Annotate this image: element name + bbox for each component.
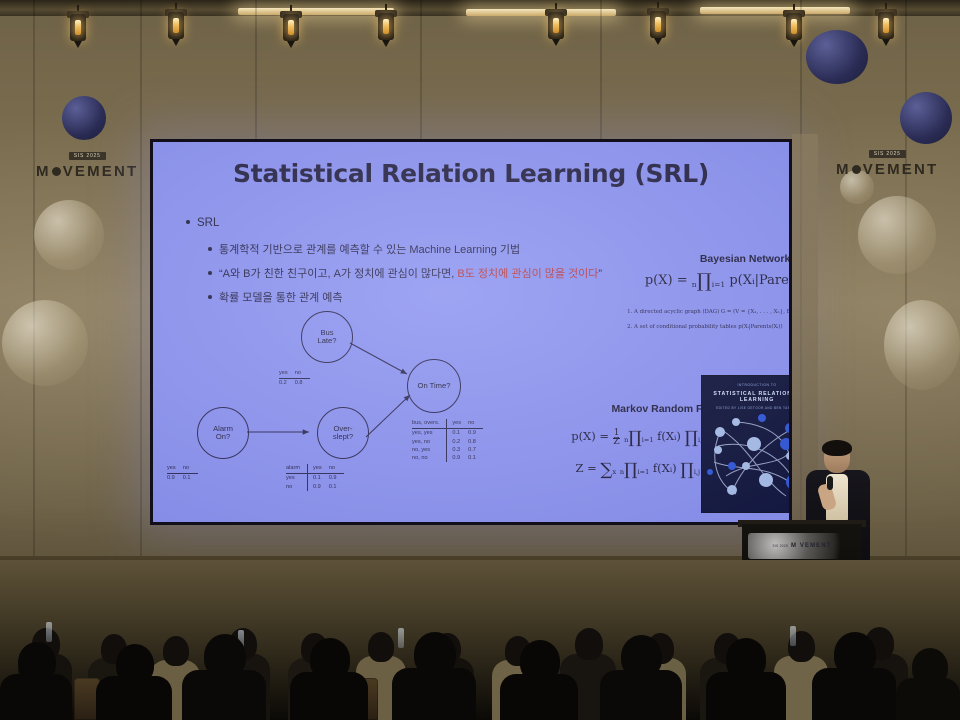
cpt-bus-late: yes no 0.2 0.8 xyxy=(279,369,310,388)
cpt-overslept-cell: 0.9 xyxy=(329,474,344,483)
book-cover-graph-icon xyxy=(702,410,789,510)
cpt-on-time: bus, overs. yes no yes, yes 0.1 0.9 yes,… xyxy=(412,419,483,462)
quote-part-plain-end: ” xyxy=(598,268,602,280)
book-title-line1: INTRODUCTION TO xyxy=(702,383,789,387)
quote-part-highlight: B도 정치에 관심이 많을 것이다 xyxy=(457,268,598,280)
speaker-hair xyxy=(822,440,852,456)
cpt-bus-late-cell: 0.8 xyxy=(295,379,310,388)
mrf-eq1-prod1-lower: i=1 xyxy=(642,437,654,444)
audience-member-front xyxy=(96,650,172,720)
cpt-bus-late-header: yes xyxy=(279,369,295,379)
bayesian-network-diagram: BusLate? AlarmOn? Over-slept? On Time? y… xyxy=(167,309,567,504)
mrf-eq1-fraction: 1 Z xyxy=(613,429,621,448)
cpt-on-time-cell: no, yes xyxy=(412,446,447,454)
mrf-eq2-prod1-lower: i=1 xyxy=(638,469,650,476)
wall-logo-left: SIS 2025 M VEMENT xyxy=(36,152,138,180)
mrf-eq2-sum-lower: x xyxy=(613,469,617,476)
bn-requirement-item: A directed acyclic graph (DAG) G = (V = … xyxy=(634,309,789,315)
decor-sphere-light-3 xyxy=(858,196,936,274)
bullet-probabilistic-model-label: 확률 모델을 통한 관계 예측 xyxy=(219,292,343,304)
cpt-on-time-cell: 0.3 xyxy=(447,446,468,454)
quote-part-plain-start: “A와 B가 친한 친구이고, A가 정치에 관심이 많다면, xyxy=(219,268,457,280)
audience-member-front xyxy=(812,642,896,720)
audience-head xyxy=(18,642,56,682)
ceiling-light-strip-2 xyxy=(466,9,616,16)
mrf-eq1-mid: f(Xᵢ) xyxy=(657,429,681,443)
cpt-on-time-header: no xyxy=(468,419,483,429)
audience-head xyxy=(116,644,154,684)
cpt-on-time-cell: yes, yes xyxy=(412,429,447,438)
wall-logo-right-rest: VEMENT xyxy=(863,161,939,178)
bayesian-networks-equation: p(X) = n∏i=1 p(Xᵢ|Parents(Xᵢ)) xyxy=(633,270,789,292)
mrf-eq1-lhs: p(X) = xyxy=(571,429,609,443)
wall-logo-left-m: M xyxy=(36,163,51,180)
bn-node-on-time: On Time? xyxy=(407,359,461,413)
product-operator-icon: ∏ xyxy=(685,428,699,448)
product-operator-icon: ∏ xyxy=(680,460,694,480)
bn-prod-lower: i=1 xyxy=(712,281,725,289)
audience-head xyxy=(368,632,394,662)
wall-pilaster-7 xyxy=(905,0,907,600)
mrf-eq2-lhs: Z = xyxy=(575,461,596,475)
bullet-dot-icon xyxy=(208,295,212,299)
cpt-overslept-cell: no xyxy=(286,483,308,491)
mrf-eq1-frac-den: Z xyxy=(613,437,619,447)
decor-sphere-light-4 xyxy=(884,300,960,390)
presentation-slide: Statistical Relation Learning (SRL) SRL … xyxy=(153,142,789,522)
book-title-line2: STATISTICAL RELATIONAL LEARNING xyxy=(702,391,789,403)
bayesian-networks-requirements: A directed acyclic graph (DAG) G = (V = … xyxy=(623,309,789,339)
podium-logo-badge: SIS 2025 xyxy=(773,544,789,548)
bullet-ml-technique-label: 통계학적 기반으로 관계를 예측할 수 있는 Machine Learning … xyxy=(219,244,520,256)
audience-member-front xyxy=(600,644,682,720)
cpt-alarm-on-header: yes xyxy=(167,464,183,474)
hanging-lantern xyxy=(378,13,394,47)
summation-operator-icon: ∑ xyxy=(600,460,612,480)
decor-sphere-light-2 xyxy=(2,300,88,386)
audience-member-front xyxy=(500,648,578,720)
bullet-ml-technique: 통계학적 기반으로 관계를 예측할 수 있는 Machine Learning … xyxy=(208,241,520,257)
cpt-on-time-cell: 0.9 xyxy=(447,454,468,462)
product-operator-icon: ∏ xyxy=(624,460,638,480)
bn-requirement-item: A set of conditional probability tables … xyxy=(634,324,789,330)
hanging-lantern xyxy=(650,11,666,45)
cpt-alarm-on: yes no 0.9 0.1 xyxy=(167,464,198,483)
wall-logo-left-badge: SIS 2025 xyxy=(69,152,106,160)
hanging-lantern xyxy=(786,13,802,47)
wall-pilaster-5 xyxy=(600,0,602,140)
decor-sphere-dark-2 xyxy=(900,92,952,144)
cpt-overslept-cell: 0.1 xyxy=(329,483,344,491)
bullet-probabilistic-model: 확률 모델을 통한 관계 예측 xyxy=(208,289,343,305)
cpt-bus-late-header: no xyxy=(295,369,310,379)
bullet-dot-icon xyxy=(186,220,190,224)
audience-head xyxy=(726,638,766,680)
cpt-overslept: alarm yes no yes 0.1 0.9 no 0.9 0.1 xyxy=(286,464,344,491)
audience-head xyxy=(414,632,456,676)
decor-sphere-dark-1 xyxy=(62,96,106,140)
water-bottle xyxy=(46,622,52,642)
audience-member-front xyxy=(0,650,72,720)
wall-logo-left-rest: VEMENT xyxy=(63,163,139,180)
bn-node-overslept: Over-slept? xyxy=(317,407,369,459)
cpt-overslept-header: no xyxy=(329,464,344,474)
bn-eq-rhs: p(Xᵢ|Parents(Xᵢ)) xyxy=(729,273,789,288)
audience-head xyxy=(310,638,350,680)
bn-node-bus-late: BusLate? xyxy=(301,311,353,363)
book-cover-srl: INTRODUCTION TO STATISTICAL RELATIONAL L… xyxy=(701,375,789,513)
cpt-overslept-cell: 0.9 xyxy=(308,483,329,491)
bullet-level1-srl: SRL xyxy=(186,217,219,229)
ceiling-light-strip-1 xyxy=(238,8,394,15)
cpt-alarm-on-cell: 0.1 xyxy=(183,474,198,483)
wall-pilaster-1 xyxy=(33,0,35,600)
audience-head xyxy=(520,640,560,682)
cpt-alarm-on-header: no xyxy=(183,464,198,474)
audience-member-front xyxy=(896,654,960,720)
wall-logo-right-wordmark: M VEMENT xyxy=(836,161,938,178)
hanging-lantern xyxy=(168,12,184,46)
cpt-on-time-header: bus, overs. xyxy=(412,419,447,429)
decor-sphere-light-1 xyxy=(34,200,104,270)
wall-pilaster-3 xyxy=(255,0,257,140)
wall-pilaster-2 xyxy=(140,0,142,600)
ceiling-light-strip-3 xyxy=(700,7,850,14)
podium-logo: SIS 2025 M VEMENT xyxy=(748,533,856,559)
audience-head xyxy=(912,648,948,686)
cpt-overslept-cell: 0.1 xyxy=(308,474,329,483)
wall-pilaster-4 xyxy=(420,0,422,140)
product-operator-icon: ∏ xyxy=(628,428,642,448)
wall-logo-right: SIS 2025 M VEMENT xyxy=(836,150,938,178)
bn-eq-lhs: p(X) = xyxy=(645,273,688,288)
hanging-lantern xyxy=(548,12,564,46)
bullet-dot-icon xyxy=(208,247,212,251)
cpt-on-time-cell: 0.9 xyxy=(468,429,483,438)
wall-logo-left-wordmark: M VEMENT xyxy=(36,163,138,180)
hanging-lantern xyxy=(283,14,299,48)
audience-member-front xyxy=(706,646,786,720)
dot-icon xyxy=(52,167,61,176)
audience-area xyxy=(0,560,960,720)
audience-head xyxy=(204,634,246,678)
cpt-overslept-header: yes xyxy=(308,464,329,474)
podium-logo-wordmark: M VEMENT xyxy=(791,543,831,549)
hanging-lantern xyxy=(70,14,86,48)
water-bottle xyxy=(790,626,796,646)
product-operator-icon: ∏ xyxy=(697,270,712,292)
bullet-level1-label: SRL xyxy=(197,217,219,229)
cpt-overslept-header: alarm xyxy=(286,464,308,474)
audience-member-front xyxy=(290,646,368,720)
mrf-eq2-mid: f(Xᵢ) xyxy=(653,461,677,475)
dot-icon xyxy=(852,165,861,174)
cpt-on-time-cell: 0.8 xyxy=(468,438,483,446)
bullet-dot-icon xyxy=(208,271,212,275)
microphone-icon xyxy=(827,476,833,490)
cpt-overslept-cell: yes xyxy=(286,474,308,483)
cpt-on-time-cell: 0.1 xyxy=(447,429,468,438)
hanging-lantern xyxy=(878,12,894,46)
audience-head xyxy=(575,628,603,660)
cpt-on-time-cell: no, no xyxy=(412,454,447,462)
cpt-on-time-cell: 0.2 xyxy=(447,438,468,446)
bullet-quote-example: “A와 B가 친한 친구이고, A가 정치에 관심이 많다면, B도 정치에 관… xyxy=(208,265,602,281)
audience-head xyxy=(834,632,876,676)
cpt-on-time-cell: 0.1 xyxy=(468,454,483,462)
audience-head xyxy=(621,635,662,678)
cpt-bus-late-cell: 0.2 xyxy=(279,379,295,388)
bayesian-networks-heading: Bayesian Networks xyxy=(653,253,789,265)
cpt-alarm-on-cell: 0.9 xyxy=(167,474,183,483)
slide-title: Statistical Relation Learning (SRL) xyxy=(153,159,789,188)
wall-logo-right-badge: SIS 2025 xyxy=(869,150,906,158)
bn-node-alarm-on: AlarmOn? xyxy=(197,407,249,459)
conference-room-photo: SIS 2025 M VEMENT SIS 2025 M VEMENT Stat… xyxy=(0,0,960,720)
cpt-on-time-cell: 0.7 xyxy=(468,446,483,454)
audience-member-front xyxy=(182,642,266,720)
projection-screen: Statistical Relation Learning (SRL) SRL … xyxy=(150,139,792,525)
audience-member-front xyxy=(392,640,476,720)
cpt-on-time-cell: yes, no xyxy=(412,438,447,446)
decor-sphere-dark-3 xyxy=(806,30,868,84)
cpt-on-time-header: yes xyxy=(447,419,468,429)
wall-logo-right-m: M xyxy=(836,161,851,178)
